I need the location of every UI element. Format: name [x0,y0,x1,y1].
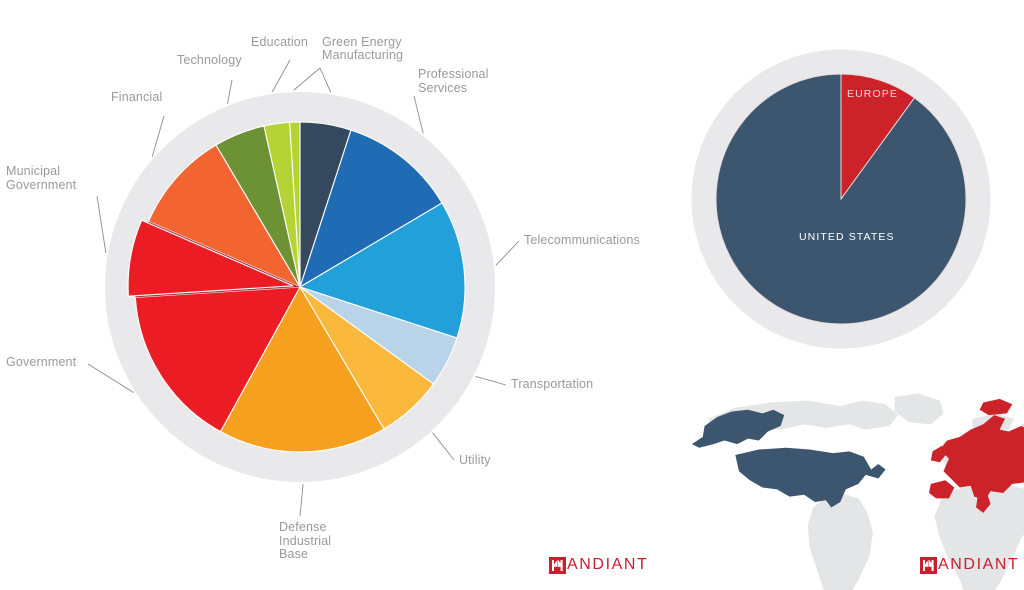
leader-line-telecommunications [496,241,519,265]
mandiant-m-mark-icon [549,557,566,574]
leader-line-manufacturing [320,68,331,92]
leader-line-education [272,60,290,92]
map-highlight-united-states [735,448,885,508]
regions-pie-slices [716,74,966,324]
pie-slice-united-states [716,74,966,324]
callout-defense-industrial-base: Defense Industrial Base [279,521,331,562]
mandiant-logo-text: ANDIANT [567,557,648,573]
callout-manufacturing: Manufacturing [322,49,403,63]
leader-line-transportation [476,376,507,385]
leader-line-defense-industrial-base [300,484,303,516]
callout-professional-services: Professional Services [418,68,489,95]
callout-transportation: Transportation [511,378,593,392]
leader-line-technology [228,80,233,104]
mandiant-logo-text: ANDIANT [938,557,1019,573]
regions-slice-label-united-states: UNITED STATES [799,231,895,243]
map-highlight-europe-north-cap [980,399,1013,415]
leader-line-green-energy [294,68,320,90]
callout-financial: Financial [111,91,162,105]
callout-government: Government [6,356,76,370]
callout-technology: Technology [177,54,242,68]
leader-line-professional-services [414,96,423,133]
callout-municipal-government: Municipal Government [6,165,76,192]
leader-line-utility [433,433,454,460]
callout-education: Education [251,36,308,50]
mandiant-m-mark-icon [920,557,937,574]
regions-slice-label-europe: EUROPE [847,88,898,100]
mandiant-logo-right: ANDIANT [920,554,1019,576]
mandiant-logo-left: ANDIANT [549,554,648,576]
callout-utility: Utility [459,454,491,468]
map-highlight-alaska [692,410,784,448]
leader-line-municipal-government [97,196,106,253]
infographic-canvas: Municipal Government Financial Technolog… [0,0,1024,590]
callout-telecommunications: Telecommunications [524,234,640,248]
